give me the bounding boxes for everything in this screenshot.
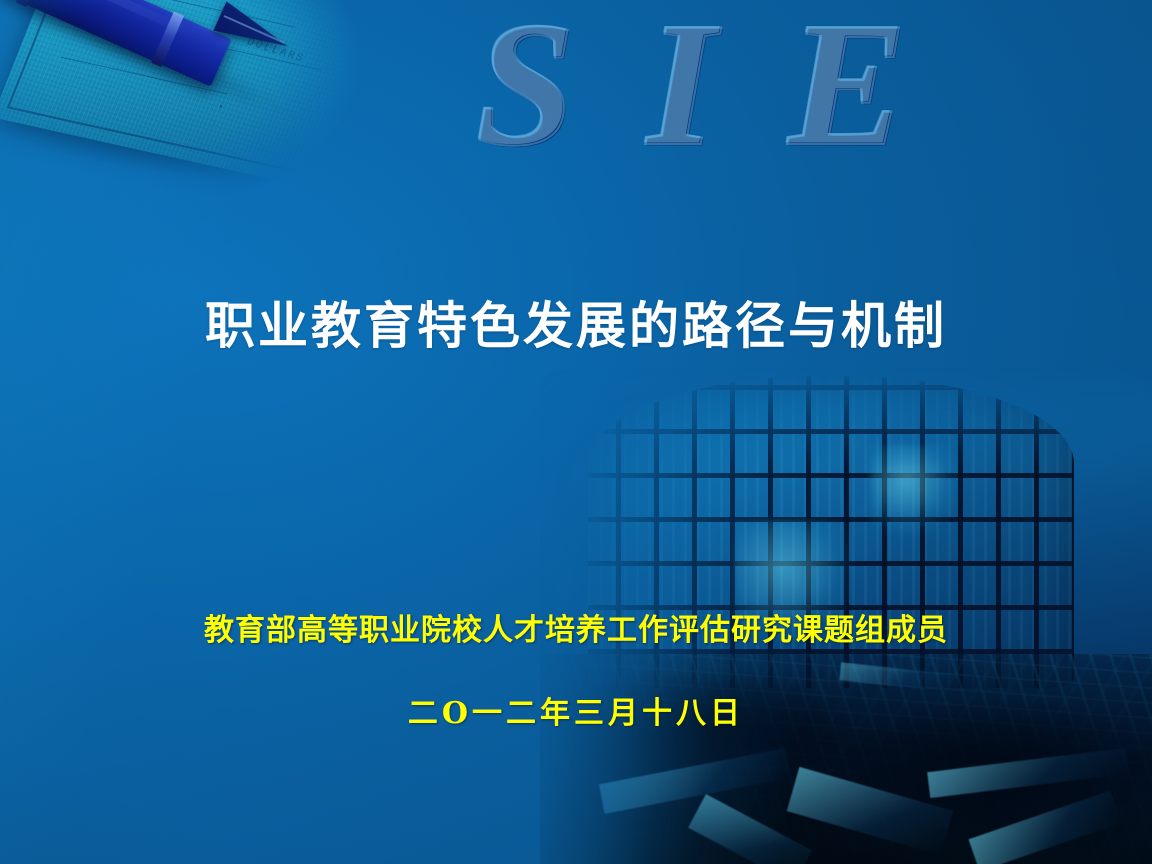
background-vignette: [0, 0, 1152, 864]
presentation-title-slide: 4970 $ DOLLARS ▪ S I E 职业教育特色发展的路径与机制 教育…: [0, 0, 1152, 864]
slide-title: 职业教育特色发展的路径与机制: [0, 286, 1152, 358]
slide-date: 二O一二年三月十八日: [0, 688, 1152, 732]
slide-subtitle: 教育部高等职业院校人才培养工作评估研究课题组成员: [0, 605, 1152, 649]
